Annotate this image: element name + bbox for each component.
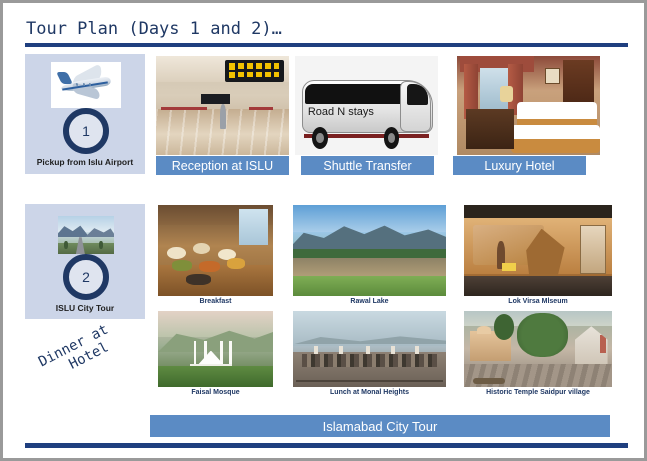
caption-breakfast: Breakfast [158,298,273,305]
step-label-day1: Pickup from Islu Airport [25,157,145,167]
step-number-1: 1 [82,123,90,139]
breakfast-buffet-photo [158,205,273,296]
bottom-rule [25,443,628,448]
dinner-at-hotel-note: Dinner at Hotel [36,322,118,385]
caption-hotel: Luxury Hotel [453,156,586,175]
title-underline [25,43,628,47]
caption-reception: Reception at ISLU [156,156,289,175]
mountain-city-image [58,216,114,254]
faisal-mosque-photo [158,311,273,387]
photo-tile-lok-virsa[interactable]: Lok Virsa Mlseum [464,205,612,308]
monal-heights-photo [293,311,446,387]
photo-tile-rawal-lake[interactable]: Rawal Lake [293,205,446,308]
rawal-lake-photo [293,205,446,296]
bus-illustration: Road N stays [295,56,438,155]
bus-side-text: Road N stays [308,106,374,118]
hotel-room-photo [457,56,600,155]
caption-monal-heights: Lunch at Monal Heights [293,389,446,396]
saidpur-village-photo [464,311,612,387]
photo-tile-faisal-mosque[interactable]: Faisal Mosque [158,311,273,399]
step-card-day1[interactable]: 1 Pickup from Islu Airport [25,54,145,174]
caption-rawal-lake: Rawal Lake [293,298,446,305]
slide-page: Tour Plan (Days 1 and 2)… 1 Pickup from … [0,0,647,461]
photo-tile-breakfast[interactable]: Breakfast [158,205,273,308]
page-title: Tour Plan (Days 1 and 2)… [26,19,282,39]
slide-canvas: Tour Plan (Days 1 and 2)… 1 Pickup from … [6,6,641,456]
step-card-day2[interactable]: 2 ISLU City Tour [25,204,145,319]
airport-terminal-photo [156,56,289,155]
airplane-image [51,62,121,108]
lok-virsa-museum-photo [464,205,612,296]
step-label-day2: ISLU City Tour [25,303,145,313]
photo-tile-saidpur-village[interactable]: Historic Temple Saidpur village [464,311,612,399]
step-number-badge-1: 1 [63,108,109,154]
step-number-2: 2 [82,269,90,285]
bottom-banner-label: Islamabad City Tour [150,415,610,437]
caption-shuttle: Shuttle Transfer [301,156,434,175]
caption-saidpur-village: Historic Temple Saidpur village [464,389,612,396]
caption-lok-virsa: Lok Virsa Mlseum [464,298,612,305]
photo-tile-monal-heights[interactable]: Lunch at Monal Heights [293,311,446,399]
caption-faisal-mosque: Faisal Mosque [158,389,273,396]
step-number-badge-2: 2 [63,254,109,300]
